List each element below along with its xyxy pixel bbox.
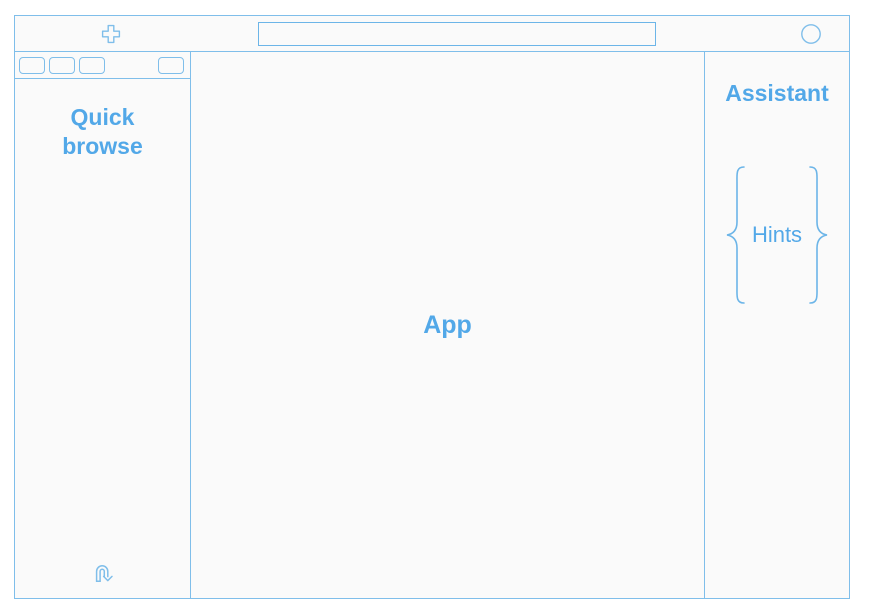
sidebar-tab-chip-2[interactable] <box>49 57 75 74</box>
sidebar-footer <box>15 556 190 590</box>
account-avatar-button[interactable] <box>799 22 823 46</box>
sidebar-tab-strip <box>15 52 190 79</box>
address-bar-input[interactable] <box>258 22 656 46</box>
back-button[interactable] <box>86 556 120 590</box>
app-label: App <box>423 311 472 340</box>
circle-avatar-icon <box>800 23 822 45</box>
sidebar-tab-chip-3[interactable] <box>79 57 105 74</box>
window-body: Quick browse <box>15 52 849 598</box>
wireframe-window: Quick browse <box>14 15 850 599</box>
sidebar-panel: Quick browse <box>15 52 191 598</box>
new-tab-button[interactable] <box>99 22 123 46</box>
browser-toolbar <box>15 16 849 52</box>
assistant-title: Assistant <box>725 80 829 108</box>
hints-block: Hints <box>705 164 849 306</box>
app-content-area: App <box>191 52 704 598</box>
sidebar-tab-chip-1[interactable] <box>19 57 45 74</box>
u-turn-arrow-icon <box>88 558 118 588</box>
hints-left-brace-icon <box>724 164 750 306</box>
hints-label: Hints <box>752 222 802 248</box>
plus-icon <box>100 23 122 45</box>
hints-right-brace-icon <box>804 164 830 306</box>
sidebar-content: Quick browse <box>15 79 190 598</box>
sidebar-tab-action-chip[interactable] <box>158 57 184 74</box>
sidebar-title: Quick browse <box>15 103 190 162</box>
assistant-panel: Assistant Hints <box>704 52 849 598</box>
